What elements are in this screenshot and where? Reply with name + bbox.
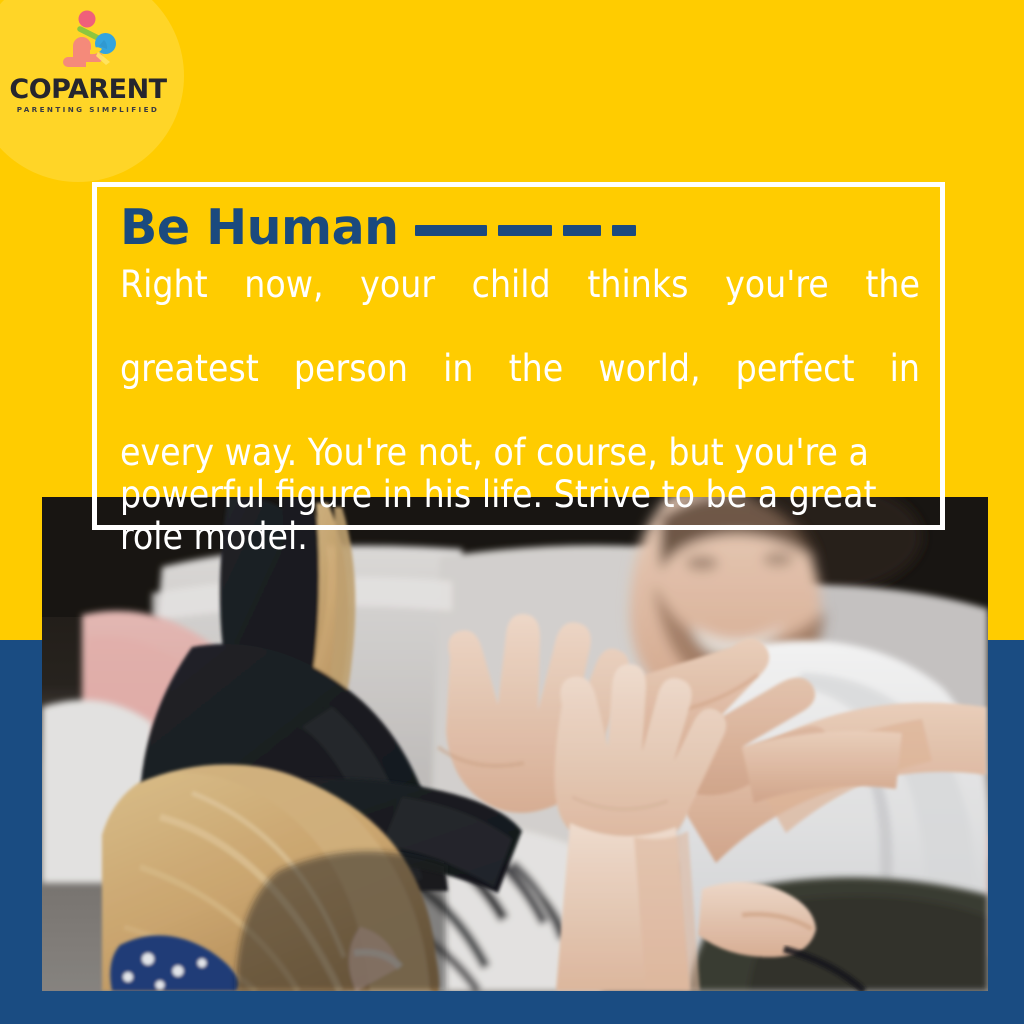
social-post-card: COPARENT PARENTING SIMPLIFIED Be Human R… bbox=[0, 0, 1024, 1024]
dashed-divider-icon bbox=[415, 225, 636, 236]
brand-logo[interactable]: COPARENT PARENTING SIMPLIFIED bbox=[8, 8, 168, 128]
logo-wordmark: COPARENT bbox=[8, 76, 168, 103]
quote-line: role model. bbox=[120, 516, 920, 558]
logo-tagline: PARENTING SIMPLIFIED bbox=[8, 105, 168, 114]
family-high-five-photo bbox=[42, 497, 988, 991]
parent-child-figure-icon bbox=[60, 10, 128, 72]
quote-line: powerful figure in his life. Strive to b… bbox=[120, 474, 920, 516]
quote-text-block: Be Human Right now, your child thinks yo… bbox=[120, 196, 926, 558]
quote-line: Right now, your child thinks you're the bbox=[120, 264, 920, 348]
quote-line: greatest person in the world, perfect in bbox=[120, 348, 920, 432]
quote-line: every way. You're not, of course, but yo… bbox=[120, 432, 920, 474]
quote-body: Right now, your child thinks you're the … bbox=[120, 264, 920, 558]
page-title: Be Human bbox=[120, 203, 399, 252]
headline-row: Be Human bbox=[120, 196, 926, 258]
